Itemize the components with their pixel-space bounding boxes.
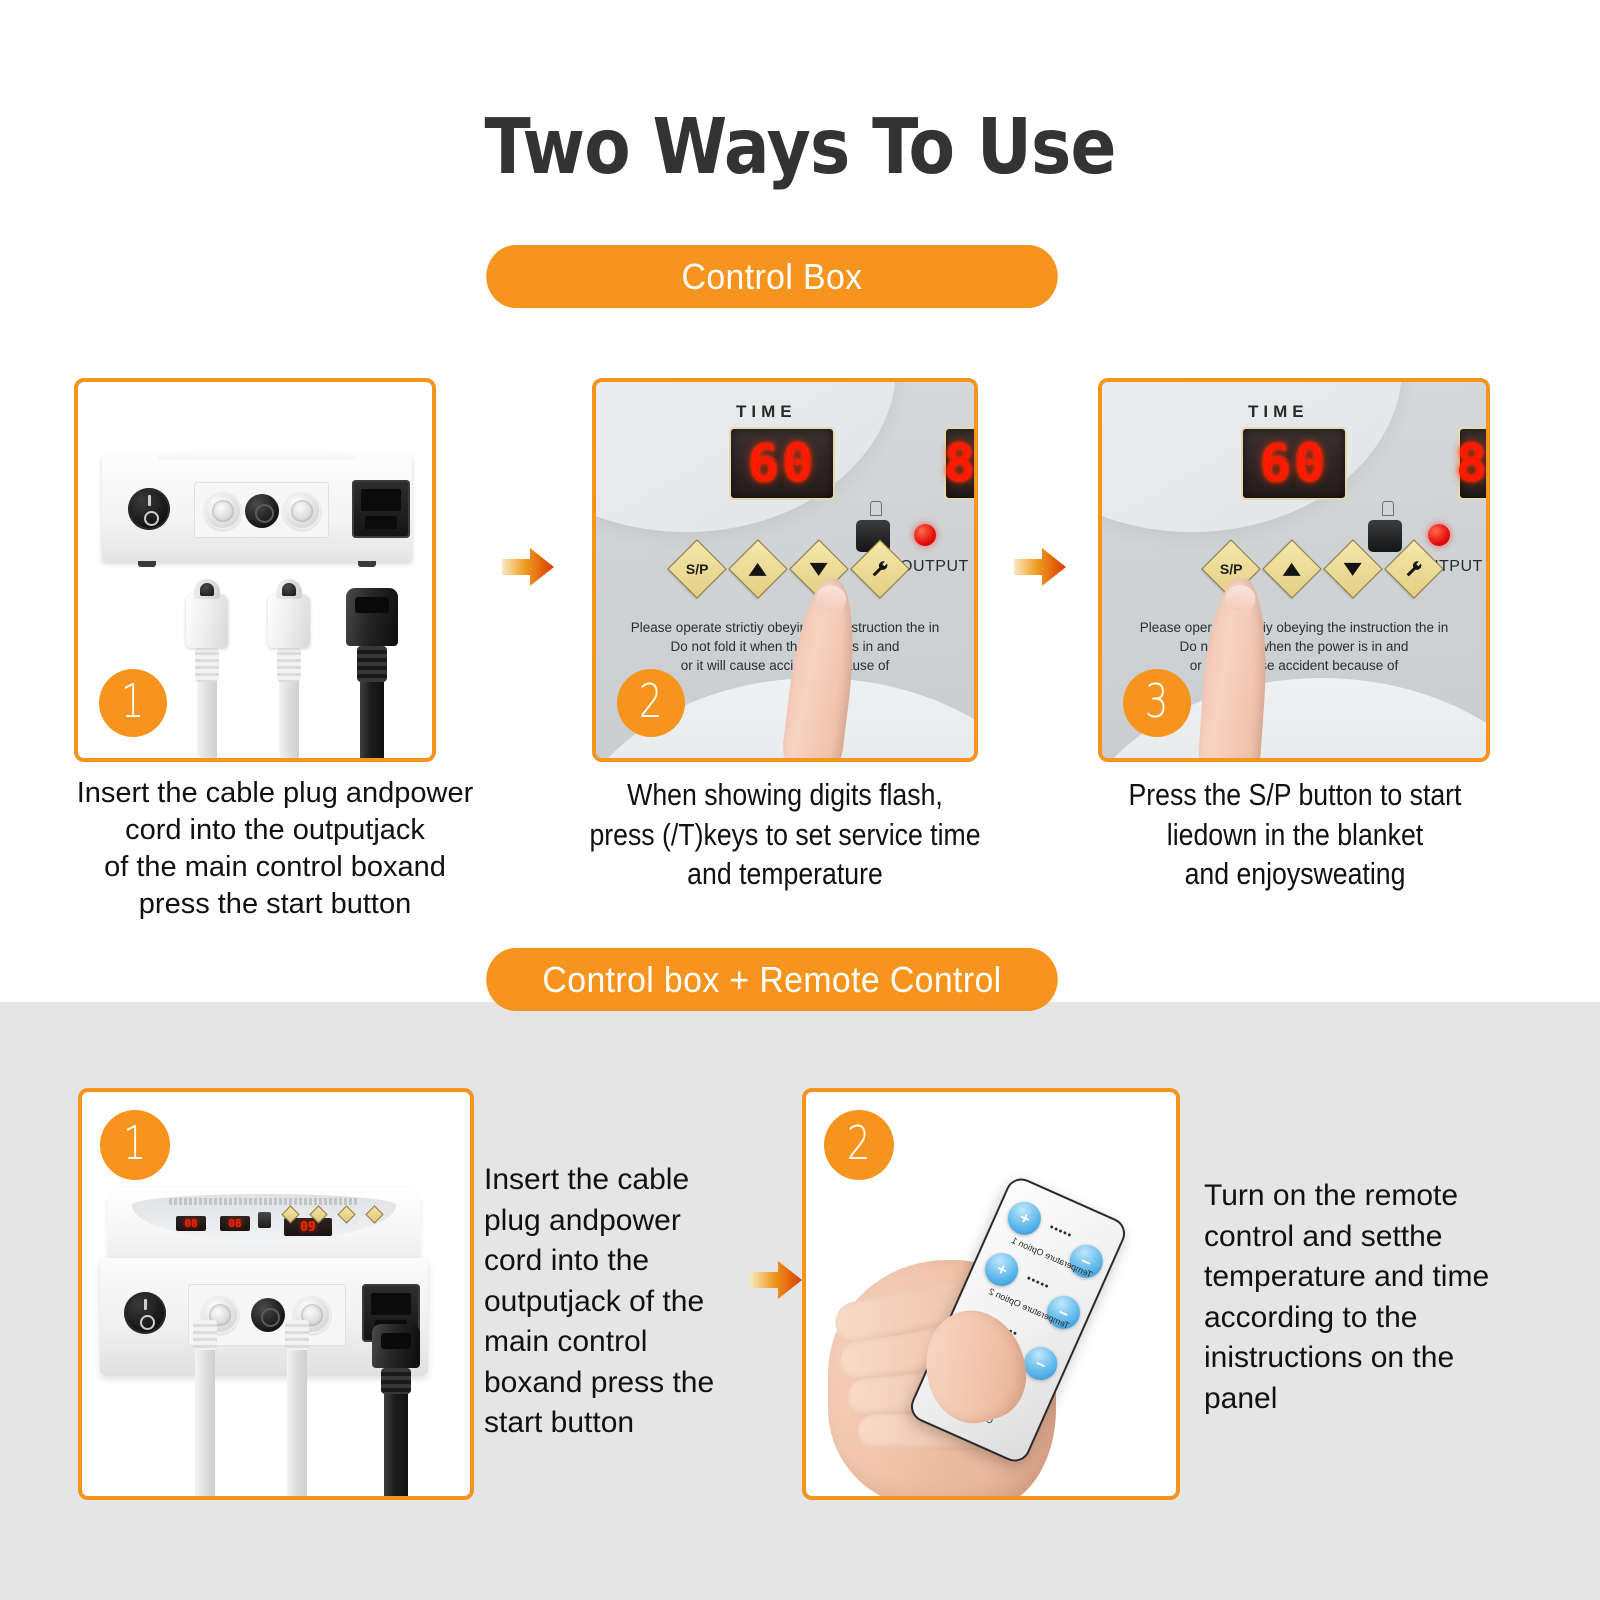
iec-power-inlet-icon (352, 480, 410, 538)
time-label: TIME (736, 402, 797, 422)
sp-button[interactable]: S/P (667, 539, 726, 598)
time-label-2: TIME (1248, 402, 1309, 422)
panel-fineprint-2: Please operate strictiy obeying the inst… (1102, 618, 1486, 675)
arrow-step1-to-step2 (500, 545, 556, 589)
temp2-plus-button[interactable]: + (980, 1248, 1024, 1292)
top-ir-receiver (258, 1212, 271, 1228)
din-cable-2 (268, 594, 310, 762)
up-button[interactable] (728, 539, 787, 598)
output-indicator-led-2 (1428, 524, 1450, 546)
box-foot-right (358, 561, 376, 567)
time-display-window: 60 (729, 427, 835, 500)
step-3-caption: Press the S/P button to start liedown in… (1084, 775, 1505, 894)
din-cable-1-connected (193, 1320, 217, 1500)
temperature-display-value: 80 (944, 434, 978, 494)
temp2-indicator-dots: ••••• (1024, 1272, 1051, 1293)
power-switch-icon-2 (124, 1292, 166, 1334)
temperature-display-window-2: 80 (1458, 427, 1490, 500)
power-cord-connected (372, 1324, 420, 1500)
power-cord (346, 588, 398, 762)
jack-plate (194, 482, 329, 538)
control-box-top-shell: 08 08 09 (108, 1188, 420, 1264)
section-one-badge: Control Box (486, 245, 1058, 308)
step-2-caption: When showing digits flash, press (/T)key… (574, 775, 995, 894)
temp1-indicator-dots: ••••• (1046, 1221, 1073, 1242)
top-display-mid: 08 (220, 1216, 250, 1231)
power-switch-icon (128, 488, 170, 530)
step-3-number-badge: 3 (1123, 669, 1191, 737)
top-button-3[interactable] (337, 1205, 355, 1223)
panel-fineprint: Please operate strictiy obeying the inst… (596, 618, 974, 675)
receiver-icon (870, 501, 882, 516)
output-indicator-led (914, 524, 936, 546)
page-title: Two Ways To Use (96, 103, 1504, 192)
infographic-page: Two Ways To Use Control Box (0, 0, 1600, 1600)
finger-pressing-sp-button (1197, 576, 1273, 762)
wrench-icon-2 (1404, 559, 1424, 579)
receiver-icon-2 (1382, 501, 1394, 516)
step-1-caption: Insert the cable plug andpower cord into… (30, 775, 520, 923)
control-box-top-face: 08 08 09 (132, 1194, 396, 1240)
control-box-rear-shell (102, 454, 412, 562)
center-button-icon-2 (251, 1298, 285, 1332)
din-jack-1-icon (204, 492, 242, 530)
step-1-number-badge: 1 (99, 669, 167, 737)
bottom-step-2-number-badge: 2 (824, 1110, 894, 1180)
center-button-icon (245, 494, 279, 528)
top-button-4[interactable] (365, 1205, 383, 1223)
din-jack-2-icon (283, 492, 321, 530)
arrow-bottom-step1-to-step2 (748, 1258, 804, 1302)
bottom-step-1-caption: Insert the cable plug andpower cord into… (484, 1160, 734, 1444)
temperature-display-window: 80 (944, 427, 978, 500)
time-display-window-2: 60 (1241, 427, 1347, 500)
temperature-display-value-2: 80 (1456, 434, 1490, 494)
ir-receiver-window-2 (1368, 520, 1402, 552)
bottom-step-1-number-badge: 1 (100, 1110, 170, 1180)
top-display-left: 08 (176, 1216, 206, 1231)
din-cable-2-connected (285, 1320, 309, 1500)
output-label: OUTPUT (900, 558, 969, 576)
section-two-badge: Control box + Remote Control (486, 948, 1058, 1011)
temp1-plus-button[interactable]: + (1003, 1197, 1047, 1241)
bottom-step-2-caption: Turn on the remote control and setthe te… (1204, 1176, 1504, 1419)
up-button-2[interactable] (1262, 539, 1321, 598)
din-cable-1 (186, 594, 228, 762)
box-foot-left (138, 561, 156, 567)
top-face-printed-text (169, 1198, 359, 1205)
arrow-step2-to-step3 (1012, 545, 1068, 589)
step-2-number-badge: 2 (617, 669, 685, 737)
time-display-value: 60 (748, 434, 817, 494)
time-display-value-2: 60 (1260, 434, 1329, 494)
wrench-icon (870, 559, 890, 579)
